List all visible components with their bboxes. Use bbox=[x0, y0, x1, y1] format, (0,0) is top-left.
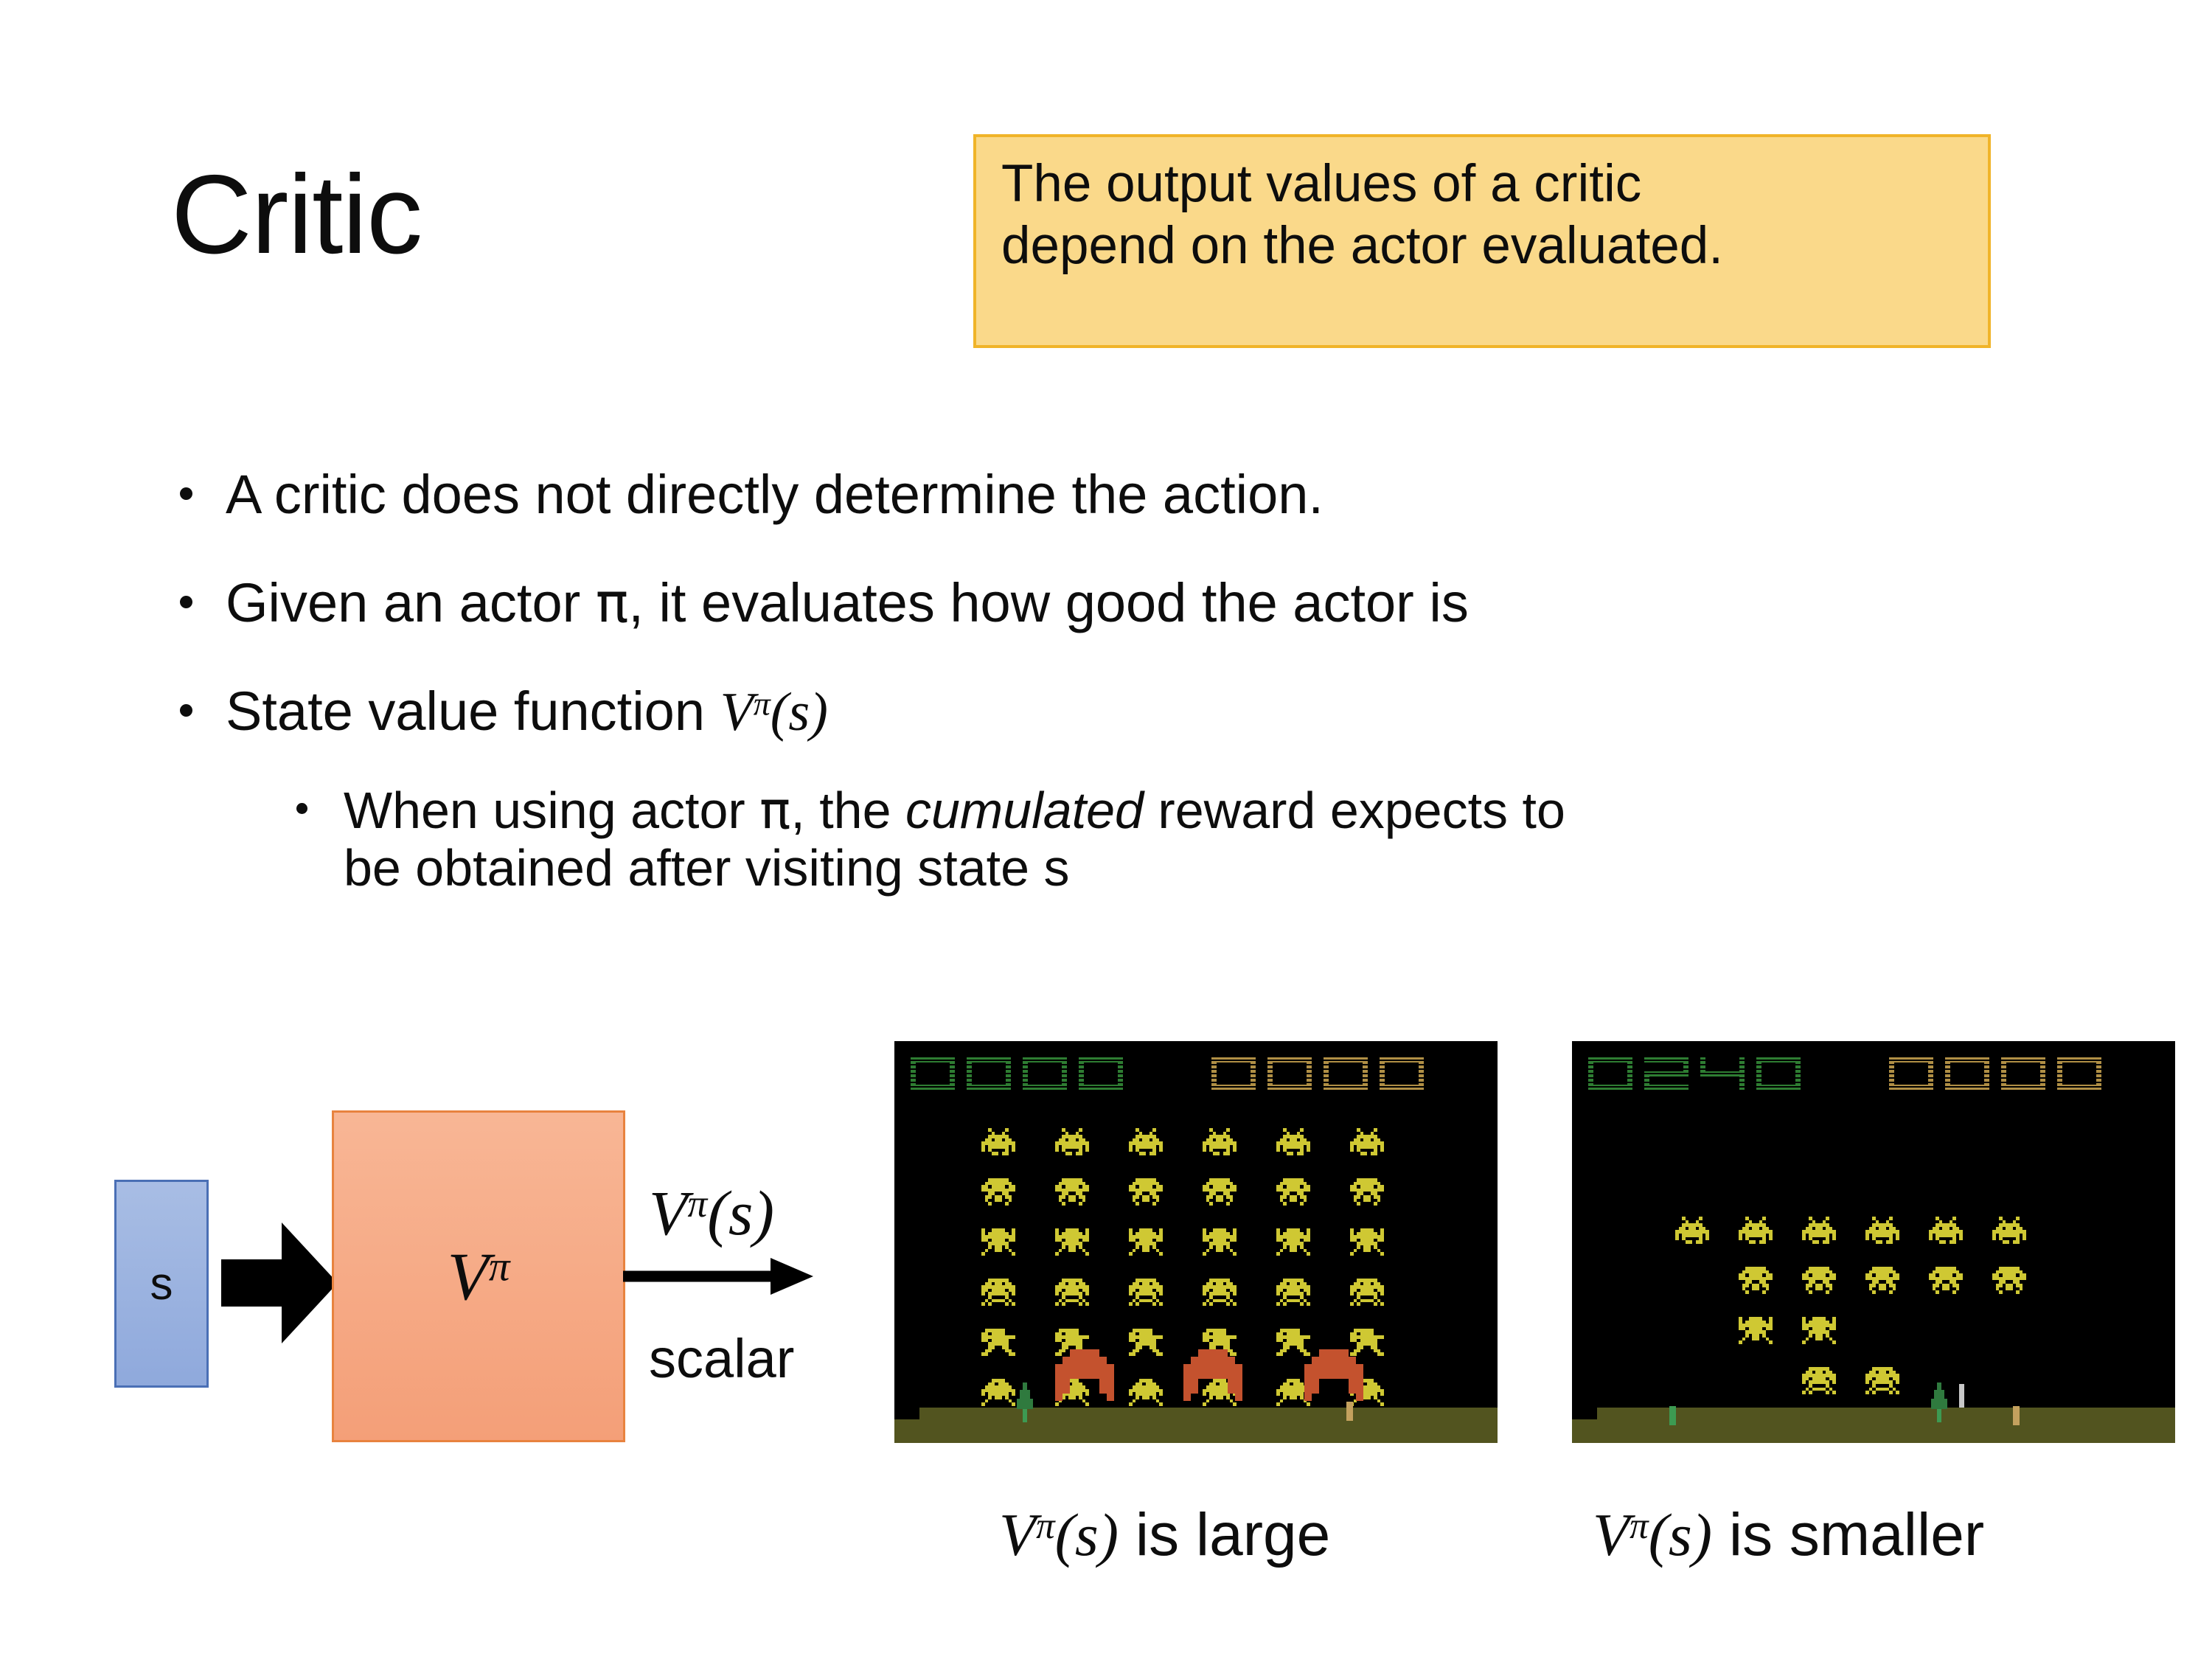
caption-left-base: V bbox=[999, 1501, 1036, 1568]
caption-right-arg: (s) bbox=[1649, 1501, 1713, 1568]
shield-sprite bbox=[1183, 1349, 1242, 1401]
output-arrow-icon bbox=[623, 1253, 815, 1299]
caption-right-superscript: π bbox=[1630, 1505, 1648, 1546]
alien-sprite bbox=[1055, 1279, 1089, 1306]
caption-left-formula: Vπ(s) bbox=[999, 1501, 1119, 1568]
alien-sprite bbox=[1929, 1217, 1963, 1244]
value-function-box: Vπ bbox=[332, 1110, 625, 1442]
output-base: V bbox=[649, 1178, 688, 1248]
state-input-box: s bbox=[114, 1180, 209, 1388]
alien-sprite bbox=[1203, 1228, 1237, 1256]
caption-left-text: is large bbox=[1119, 1501, 1330, 1568]
value-box-superscript: π bbox=[489, 1243, 510, 1290]
alien-grid-right bbox=[1572, 1041, 2175, 1443]
output-argument: (s) bbox=[707, 1178, 774, 1248]
alien-sprite bbox=[1276, 1128, 1310, 1155]
caption-left: Vπ(s) is large bbox=[999, 1500, 1330, 1570]
alien-sprite bbox=[1055, 1228, 1089, 1256]
value-box-label: Vπ bbox=[448, 1237, 510, 1315]
alien-sprite bbox=[1802, 1317, 1836, 1344]
atari-screenshot-right bbox=[1572, 1041, 2175, 1443]
alien-sprite bbox=[1865, 1267, 1899, 1294]
ground-strip-right bbox=[1572, 1408, 2175, 1443]
callout-box: The output values of a critic depend on … bbox=[973, 134, 1991, 348]
alien-sprite bbox=[1675, 1217, 1709, 1244]
alien-sprite bbox=[1865, 1217, 1899, 1244]
alien-sprite bbox=[1129, 1279, 1163, 1306]
alien-sprite bbox=[1929, 1267, 1963, 1294]
alien-sprite bbox=[1129, 1329, 1163, 1356]
alien-sprite bbox=[1129, 1178, 1163, 1206]
value-box-base: V bbox=[448, 1239, 489, 1314]
ground-notch-right bbox=[1572, 1406, 1597, 1419]
alien-sprite bbox=[1802, 1367, 1836, 1394]
alien-sprite bbox=[1203, 1178, 1237, 1206]
tree-icon-left bbox=[1017, 1382, 1033, 1422]
alien-sprite bbox=[981, 1379, 1015, 1406]
callout-line-1: The output values of a critic bbox=[1001, 153, 1963, 215]
alien-sprite bbox=[1055, 1178, 1089, 1206]
tree-icon-right bbox=[1931, 1382, 1947, 1422]
caption-right-text: is smaller bbox=[1712, 1501, 1984, 1568]
alien-sprite bbox=[1865, 1367, 1899, 1394]
output-superscript: π bbox=[688, 1181, 708, 1225]
state-box-label: s bbox=[150, 1258, 173, 1310]
ground-marker-green-right bbox=[1669, 1406, 1676, 1425]
alien-sprite bbox=[1350, 1279, 1384, 1306]
alien-sprite bbox=[1350, 1228, 1384, 1256]
alien-sprite bbox=[1739, 1267, 1773, 1294]
alien-sprite bbox=[1276, 1178, 1310, 1206]
caption-left-superscript: π bbox=[1036, 1505, 1054, 1546]
ground-marker-left bbox=[1346, 1402, 1353, 1421]
alien-sprite bbox=[981, 1178, 1015, 1206]
output-value-label: Vπ(s) bbox=[649, 1176, 774, 1250]
alien-sprite bbox=[1992, 1267, 2026, 1294]
input-arrow-icon bbox=[221, 1217, 339, 1349]
sub-text-c: reward expects to bbox=[1144, 782, 1565, 839]
alien-sprite bbox=[1739, 1317, 1773, 1344]
ground-strip-left bbox=[894, 1408, 1498, 1443]
alien-sprite bbox=[1203, 1128, 1237, 1155]
callout-line-2: depend on the actor evaluated. bbox=[1001, 215, 1963, 277]
alien-sprite bbox=[1350, 1178, 1384, 1206]
caption-right-base: V bbox=[1593, 1501, 1630, 1568]
alien-sprite bbox=[981, 1329, 1015, 1356]
caption-right: Vπ(s) is smaller bbox=[1593, 1500, 1984, 1570]
alien-sprite bbox=[1129, 1128, 1163, 1155]
shield-sprite bbox=[1055, 1349, 1114, 1401]
sub-text-emphasis: cumulated bbox=[905, 782, 1144, 839]
ground-notch-left bbox=[894, 1406, 919, 1419]
alien-sprite bbox=[1992, 1217, 2026, 1244]
alien-sprite bbox=[981, 1228, 1015, 1256]
alien-sprite bbox=[1350, 1128, 1384, 1155]
alien-sprite bbox=[1203, 1279, 1237, 1306]
alien-sprite bbox=[1276, 1279, 1310, 1306]
alien-sprite bbox=[1129, 1379, 1163, 1406]
caption-left-arg: (s) bbox=[1055, 1501, 1119, 1568]
alien-sprite bbox=[981, 1128, 1015, 1155]
alien-sprite bbox=[1802, 1217, 1836, 1244]
scalar-label: scalar bbox=[649, 1327, 794, 1390]
alien-sprite bbox=[1276, 1228, 1310, 1256]
atari-screenshot-left bbox=[894, 1041, 1498, 1443]
caption-right-formula: Vπ(s) bbox=[1593, 1501, 1712, 1568]
critic-diagram: s Vπ Vπ(s) scalar bbox=[0, 0, 885, 1659]
player-bullet-right bbox=[1959, 1384, 1964, 1409]
shield-sprite bbox=[1304, 1349, 1363, 1401]
alien-sprite bbox=[1129, 1228, 1163, 1256]
ground-marker-tan-right bbox=[2013, 1406, 2020, 1425]
alien-sprite bbox=[1802, 1267, 1836, 1294]
alien-sprite bbox=[981, 1279, 1015, 1306]
alien-sprite bbox=[1739, 1217, 1773, 1244]
alien-sprite bbox=[1055, 1128, 1089, 1155]
